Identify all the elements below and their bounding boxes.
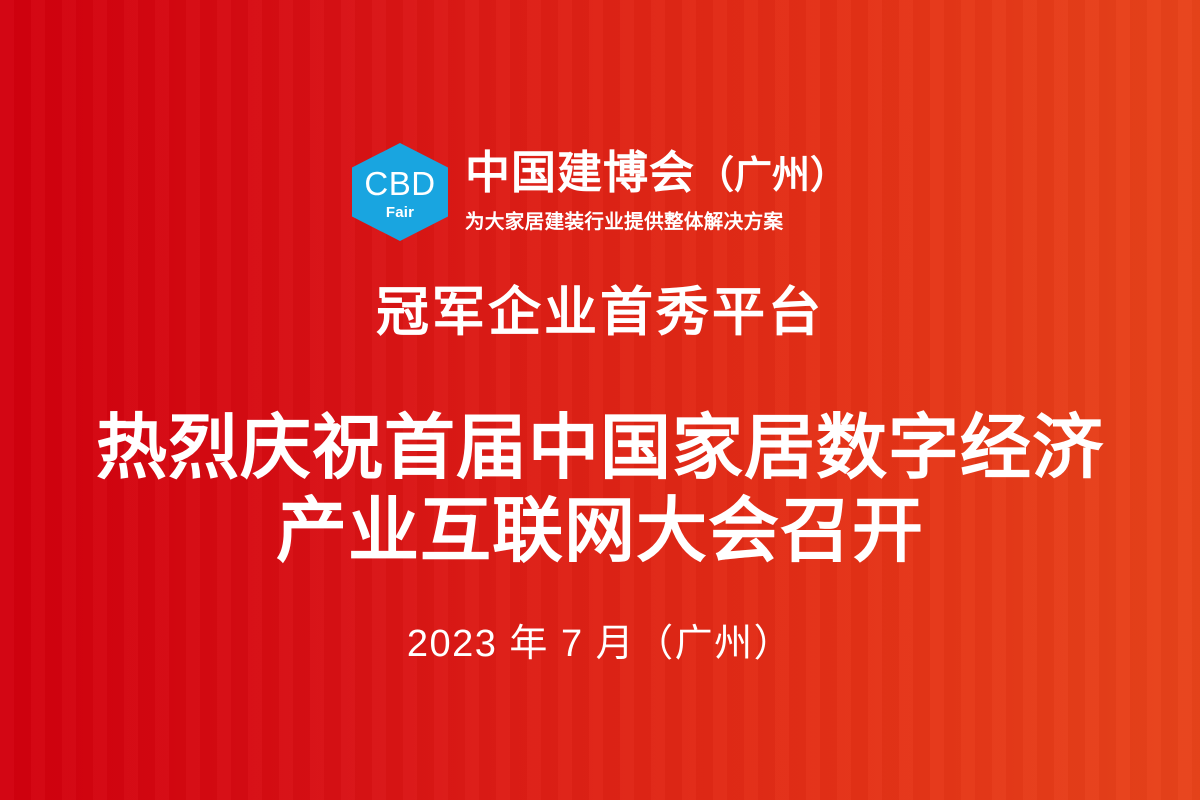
headline-line-1: 热烈庆祝首届中国家居数字经济 [96, 407, 1104, 491]
brand-name: 中国建博会 [465, 150, 695, 195]
event-date-location: 2023 年 7 月（广州） [407, 612, 793, 667]
cbd-fair-hexagon-logo: CBD Fair [352, 143, 448, 241]
poster-canvas: CBD Fair 中国建博会 （广州） 为大家居建装行业提供整体解决方案 冠军企… [0, 0, 1200, 800]
logo-mark-subtext: Fair [386, 205, 414, 220]
brand-lockup: CBD Fair 中国建博会 （广州） 为大家居建装行业提供整体解决方案 [352, 143, 848, 241]
logo-mark-text: CBD [364, 167, 435, 200]
poster-content: CBD Fair 中国建博会 （广州） 为大家居建装行业提供整体解决方案 冠军企… [0, 0, 1200, 800]
hexagon-logo-text: CBD Fair [352, 143, 448, 241]
brand-text-block: 中国建博会 （广州） 为大家居建装行业提供整体解决方案 [465, 150, 848, 234]
brand-tagline: 为大家居建装行业提供整体解决方案 [465, 205, 848, 234]
headline-line-2: 产业互联网大会召开 [96, 490, 1104, 574]
poster-headline: 热烈庆祝首届中国家居数字经济 产业互联网大会召开 [96, 407, 1104, 575]
brand-name-city: （广州） [696, 157, 848, 195]
poster-subtitle: 冠军企业首秀平台 [376, 285, 824, 341]
brand-name-row: 中国建博会 （广州） [465, 150, 848, 195]
